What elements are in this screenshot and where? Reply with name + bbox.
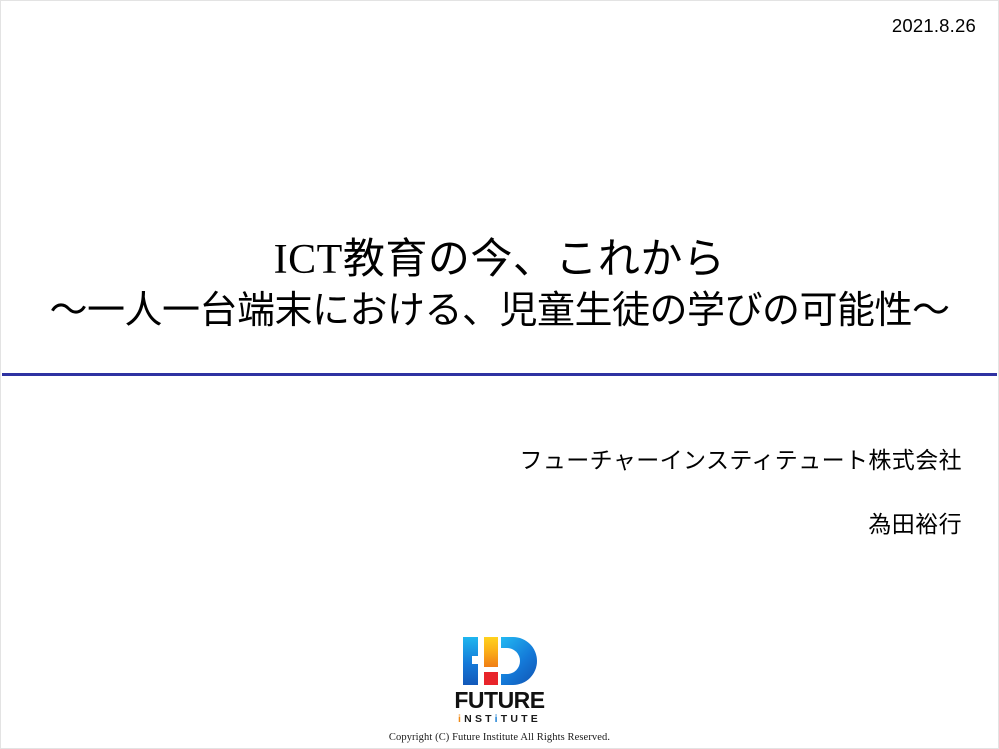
presentation-slide: 2021.8.26 ICT教育の今、これから 〜一人一台端末における、児童生徒の…	[0, 0, 999, 749]
page-subtitle: 〜一人一台端末における、児童生徒の学びの可能性〜	[1, 290, 998, 334]
copyright-notice: Copyright (C) Future Institute All Right…	[1, 732, 998, 743]
future-institute-logo: FUTURE iNSTiTUTE	[410, 637, 590, 725]
logo-sub-letter-s: S	[475, 713, 485, 725]
page-title: ICT教育の今、これから	[1, 237, 998, 284]
presenter-block: フューチャーインスティテュート株式会社 為田裕行	[519, 441, 962, 539]
logo-sub-letter-t3: T	[521, 713, 531, 725]
logo-sub-wordmark: iNSTiTUTE	[410, 714, 590, 725]
logo-sub-letter-t2: T	[501, 713, 511, 725]
logo-sub-letter-e: E	[531, 713, 541, 725]
logo-mark-icon	[461, 637, 539, 685]
title-divider-line	[2, 373, 997, 376]
title-block: ICT教育の今、これから 〜一人一台端末における、児童生徒の学びの可能性〜	[1, 237, 998, 334]
speaker-name: 為田裕行	[519, 505, 962, 539]
slide-date: 2021.8.26	[892, 15, 976, 37]
company-name: フューチャーインスティテュート株式会社	[519, 441, 962, 475]
logo-wordmark: FUTURE	[410, 689, 590, 712]
logo-sub-letter-n: N	[464, 713, 475, 725]
logo-sub-letter-u: U	[510, 713, 521, 725]
logo-exclamation-dot-icon	[484, 672, 498, 685]
logo-sub-letter-t1: T	[485, 713, 494, 725]
logo-exclamation-bar-icon	[484, 637, 498, 667]
logo-bar-notch-icon	[472, 656, 478, 664]
